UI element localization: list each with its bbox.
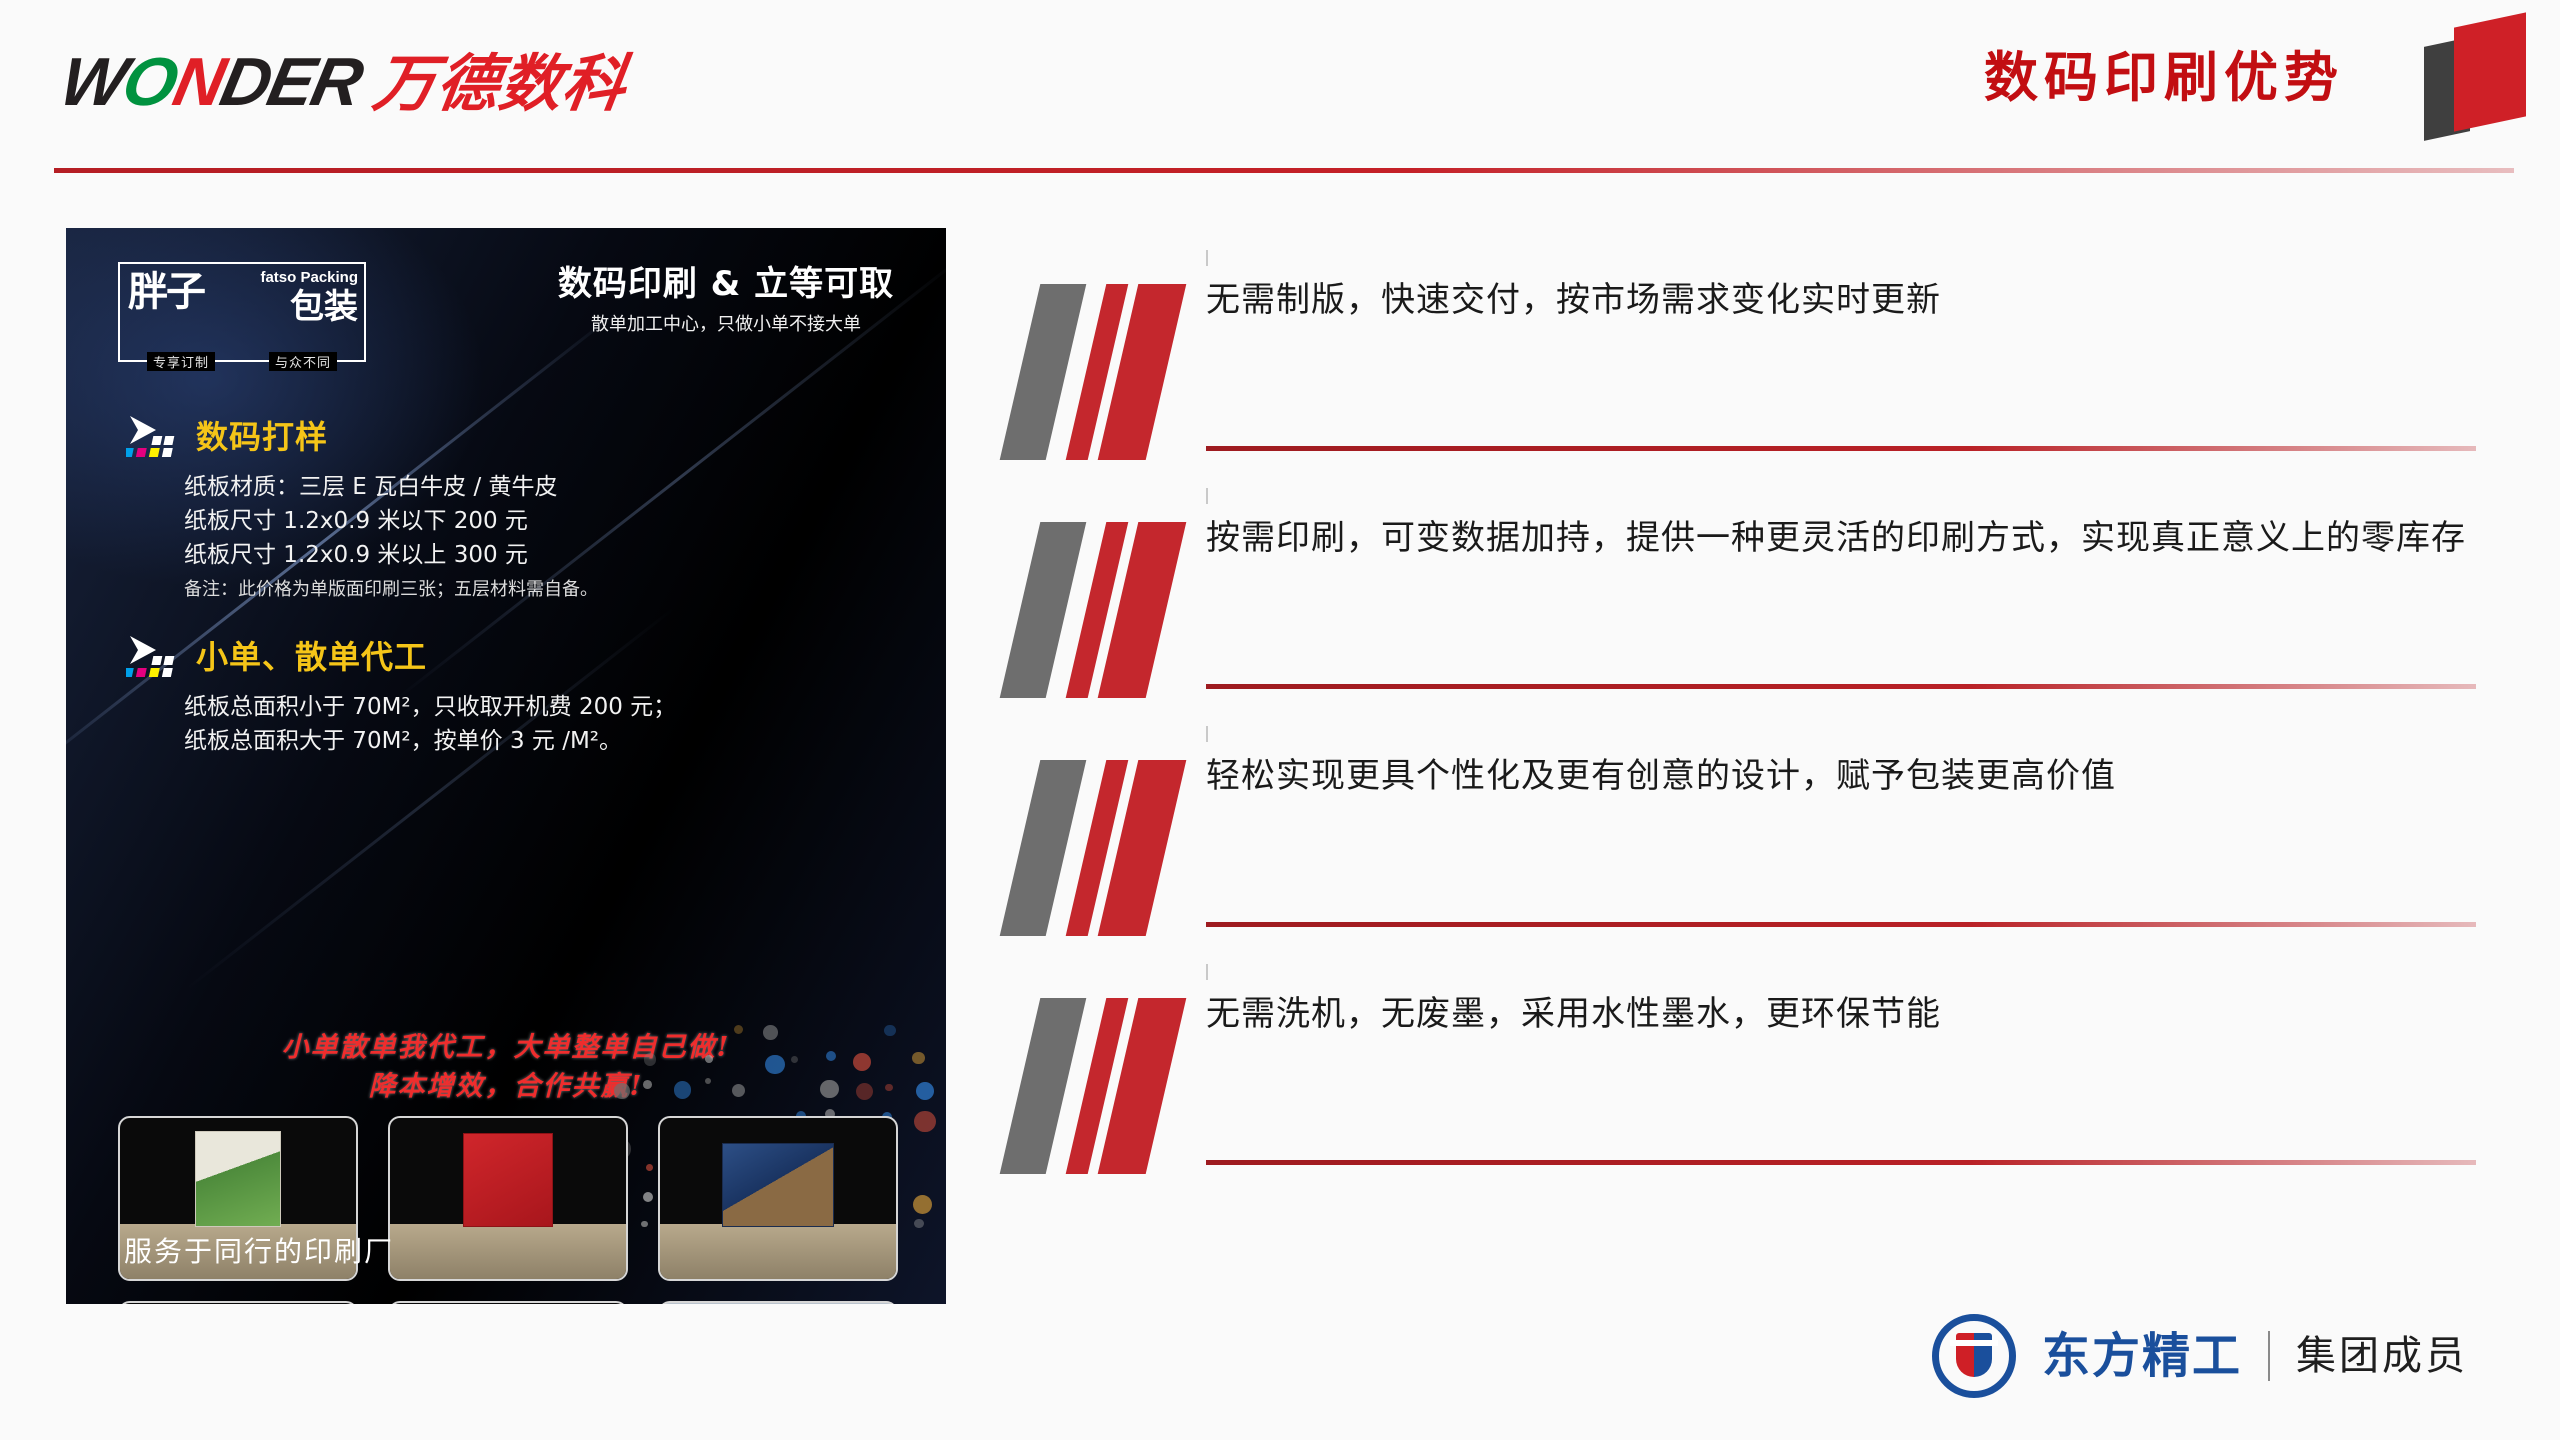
advantage-body: 无需制版，快速交付，按市场需求变化实时更新 [1206,274,2476,327]
advantage-text: 按需印刷，可变数据加持，提供一种更灵活的印刷方式，实现真正意义上的零库存 [1206,512,2476,565]
poster-section-2-title: 小单、散单代工 [196,641,427,673]
advantage-item: 轻松实现更具个性化及更有创意的设计，赋予包装更高价值 [1010,726,2500,964]
footer-company-name: 东方精工 [2042,1332,2242,1380]
bullet-tick [1206,488,1208,504]
advantage-text: 轻松实现更具个性化及更有创意的设计，赋予包装更高价值 [1206,750,2476,803]
product-photo [658,1301,898,1304]
poster-footer-text: 服务于同行的印刷厂 [124,1230,394,1270]
footer-member-label: 集团成员 [2296,1336,2468,1376]
page-title: 数码印刷优势 [1984,46,2344,111]
poster-headline-block: 数码印刷 & 立等可取 散单加工中心，只做小单不接大单 [526,264,926,336]
product-photo [658,1116,898,1281]
poster-section-2: 小单、散单代工 纸板总面积小于 70M²，只收取开机费 200 元； 纸板总面积… [126,634,926,758]
product-photo [118,1301,358,1304]
wonder-logo-der: DER [215,48,367,116]
poster-section-1-title: 数码打样 [196,421,328,453]
poster-section-1-head: 数码打样 [126,414,926,460]
bullet-tick [1206,250,1208,266]
footer-brand: 东方精工 集团成员 [1932,1314,2468,1398]
advantage-body: 无需洗机，无废墨，采用水性墨水，更环保节能 [1206,988,2476,1041]
poster-photo-grid [118,1116,898,1304]
bullet-stripe-icon [1010,522,1200,702]
advantage-item: 无需洗机，无废墨，采用水性墨水，更环保节能 [1010,964,2500,1202]
slide-root: WONDER 万德数科 数码印刷优势 胖子 fatso Packing 包装 专… [0,0,2560,1440]
fatso-logo-taglines: 专享订制 与众不同 [120,352,364,371]
bullet-tick [1206,726,1208,742]
corner-decoration-icon [2410,8,2530,136]
poster-section-1-line: 纸板尺寸 1.2x0.9 米以下 200 元 [184,504,926,538]
product-photo [388,1116,628,1281]
poster-section-2-line: 纸板总面积小于 70M²，只收取开机费 200 元； [184,690,926,724]
poster-headline: 数码印刷 & 立等可取 [526,264,926,305]
advantage-item: 无需制版，快速交付，按市场需求变化实时更新 [1010,250,2500,488]
poster-top-band: 胖子 fatso Packing 包装 专享订制 与众不同 数码印刷 & 立等可… [66,228,946,378]
chevron-cmyk-icon [126,634,184,680]
footer-divider [2268,1331,2270,1381]
product-photo [388,1301,628,1304]
poster-subheadline: 散单加工中心，只做小单不接大单 [526,313,926,336]
poster-section-2-head: 小单、散单代工 [126,634,926,680]
advantage-underline [1206,684,2476,689]
poster-section-1-line: 纸板尺寸 1.2x0.9 米以上 300 元 [184,538,926,572]
advantages-list: 无需制版，快速交付，按市场需求变化实时更新 按需印刷，可变数据加持，提供一种更灵… [1010,250,2500,1202]
dongfang-jinggong-logo-icon [1932,1314,2016,1398]
fatso-logo-en: fatso Packing [260,270,358,285]
poster-section-1-body: 纸板材质：三层 E 瓦白牛皮 / 黄牛皮 纸板尺寸 1.2x0.9 米以下 20… [184,470,926,603]
advantage-text: 无需洗机，无废墨，采用水性墨水，更环保节能 [1206,988,2476,1041]
advantage-item: 按需印刷，可变数据加持，提供一种更灵活的印刷方式，实现真正意义上的零库存 [1010,488,2500,726]
fatso-packing-logo: 胖子 fatso Packing 包装 专享订制 与众不同 [118,262,366,362]
wonder-logo: WONDER 万德数科 [62,48,626,116]
chevron-cmyk-icon [126,414,184,460]
header-divider [54,168,2514,173]
wonder-logo-latin: WONDER [55,48,367,116]
advantage-underline [1206,1160,2476,1165]
slide-header: WONDER 万德数科 数码印刷优势 [0,0,2560,172]
poster-section-1-line: 纸板材质：三层 E 瓦白牛皮 / 黄牛皮 [184,470,926,504]
bullet-stripe-icon [1010,998,1200,1178]
poster-section-2-body: 纸板总面积小于 70M²，只收取开机费 200 元； 纸板总面积大于 70M²，… [184,690,926,758]
promo-poster-image: 胖子 fatso Packing 包装 专享订制 与众不同 数码印刷 & 立等可… [66,228,946,1304]
fatso-tagline-left: 专享订制 [147,352,215,371]
advantage-body: 轻松实现更具个性化及更有创意的设计，赋予包装更高价值 [1206,750,2476,803]
advantage-body: 按需印刷，可变数据加持，提供一种更灵活的印刷方式，实现真正意义上的零库存 [1206,512,2476,565]
fatso-tagline-right: 与众不同 [269,352,337,371]
advantage-underline [1206,922,2476,927]
poster-section-2-line: 纸板总面积大于 70M²，按单价 3 元 /M²。 [184,724,926,758]
bullet-stripe-icon [1010,760,1200,940]
poster-section-1: 数码打样 纸板材质：三层 E 瓦白牛皮 / 黄牛皮 纸板尺寸 1.2x0.9 米… [126,414,926,603]
bullet-stripe-icon [1010,284,1200,464]
bullet-tick [1206,964,1208,980]
advantage-text: 无需制版，快速交付，按市场需求变化实时更新 [1206,274,2476,327]
corner-red-shape [2454,12,2526,131]
fatso-logo-cn: 胖子 [128,272,204,312]
poster-section-1-note: 备注：此价格为单版面印刷三张；五层材料需自备。 [184,576,926,603]
advantage-underline [1206,446,2476,451]
wonder-logo-chinese: 万德数科 [369,53,630,115]
fatso-logo-cn2: 包装 [290,290,358,324]
